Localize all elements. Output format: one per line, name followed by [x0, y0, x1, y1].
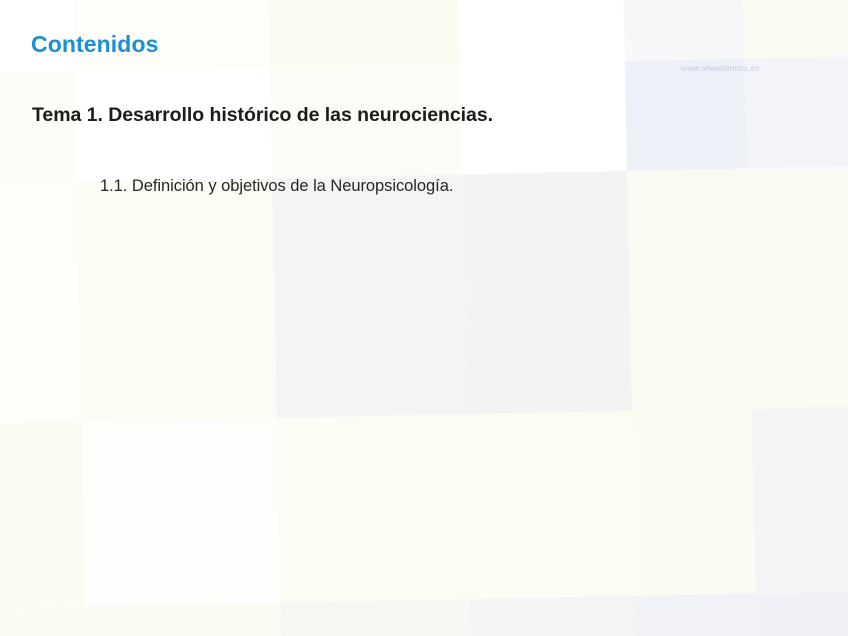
- watermark-url: www.uneatlantico.es: [681, 64, 760, 73]
- topic-heading: Tema 1. Desarrollo histórico de las neur…: [32, 104, 493, 127]
- slide-content: Contenidos Tema 1. Desarrollo histórico …: [0, 0, 848, 636]
- slide: Contenidos Tema 1. Desarrollo histórico …: [0, 0, 848, 636]
- page-title: Contenidos: [31, 31, 159, 58]
- subtopic-item-1: 1.1. Definición y objetivos de la Neurop…: [100, 177, 453, 196]
